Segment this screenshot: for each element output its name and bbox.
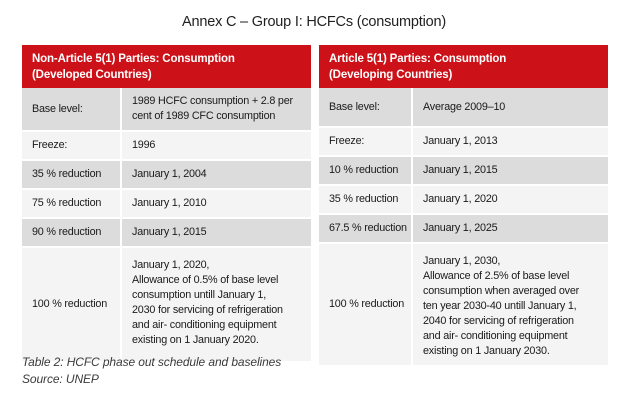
table-row: 35 % reduction January 1, 2004 xyxy=(22,159,311,188)
caption-line-title: Table 2: HCFC phase out schedule and bas… xyxy=(22,354,542,371)
row-label: 75 % reduction xyxy=(22,190,120,217)
row-label: 10 % reduction xyxy=(319,157,411,184)
row-value: January 1, 2010 xyxy=(120,190,311,217)
row-value: January 1, 2015 xyxy=(120,219,311,246)
row-value: January 1, 2020 xyxy=(411,186,608,213)
row-value: January 1, 2025 xyxy=(411,215,608,242)
panel-header-line2: (Developing Countries) xyxy=(329,68,598,84)
row-value: 1996 xyxy=(120,132,311,159)
table-row: 10 % reduction January 1, 2015 xyxy=(319,155,608,184)
row-label: Base level: xyxy=(319,88,411,126)
row-label: 35 % reduction xyxy=(22,161,120,188)
row-value: January 1, 2020, Allowance of 0.5% of ba… xyxy=(120,248,311,361)
table-row: 90 % reduction January 1, 2015 xyxy=(22,217,311,246)
hcfc-schedule-table: Non-Article 5(1) Parties: Consumption (D… xyxy=(22,45,608,365)
caption-line-source: Source: UNEP xyxy=(22,371,542,388)
row-value: January 1, 2030, Allowance of 2.5% of ba… xyxy=(411,244,608,365)
table-row: Base level: Average 2009–10 xyxy=(319,88,608,126)
row-value: Average 2009–10 xyxy=(411,88,608,126)
table-row: Freeze: January 1, 2013 xyxy=(319,126,608,155)
panel-header-line1: Article 5(1) Parties: Consumption xyxy=(329,52,598,68)
row-label: 100 % reduction xyxy=(22,248,120,361)
row-label: 100 % reduction xyxy=(319,244,411,365)
panel-divider xyxy=(311,45,319,365)
row-value: January 1, 2004 xyxy=(120,161,311,188)
row-label: Freeze: xyxy=(319,128,411,155)
row-value: January 1, 2013 xyxy=(411,128,608,155)
table-caption: Table 2: HCFC phase out schedule and bas… xyxy=(22,354,542,388)
table-row: 67.5 % reduction January 1, 2025 xyxy=(319,213,608,242)
row-label: Freeze: xyxy=(22,132,120,159)
panel-header-line1: Non-Article 5(1) Parties: Consumption xyxy=(32,52,301,68)
document-page: Annex C – Group I: HCFCs (consumption) N… xyxy=(0,0,628,419)
row-label: 35 % reduction xyxy=(319,186,411,213)
table-panel-article5: Article 5(1) Parties: Consumption (Devel… xyxy=(319,45,608,365)
table-row: 100 % reduction January 1, 2030, Allowan… xyxy=(319,242,608,365)
row-value: 1989 HCFC consumption + 2.8 per cent of … xyxy=(120,88,311,130)
panel-header-line2: (Developed Countries) xyxy=(32,68,301,84)
row-label: 67.5 % reduction xyxy=(319,215,411,242)
page-title: Annex C – Group I: HCFCs (consumption) xyxy=(0,14,628,30)
panel-header-non-article5: Non-Article 5(1) Parties: Consumption (D… xyxy=(22,45,311,88)
table-panel-non-article5: Non-Article 5(1) Parties: Consumption (D… xyxy=(22,45,311,365)
row-value: January 1, 2015 xyxy=(411,157,608,184)
table-row: Freeze: 1996 xyxy=(22,130,311,159)
table-row: 100 % reduction January 1, 2020, Allowan… xyxy=(22,246,311,361)
row-label: Base level: xyxy=(22,88,120,130)
table-row: 35 % reduction January 1, 2020 xyxy=(319,184,608,213)
row-label: 90 % reduction xyxy=(22,219,120,246)
table-row: Base level: 1989 HCFC consumption + 2.8 … xyxy=(22,88,311,130)
table-row: 75 % reduction January 1, 2010 xyxy=(22,188,311,217)
panel-header-article5: Article 5(1) Parties: Consumption (Devel… xyxy=(319,45,608,88)
